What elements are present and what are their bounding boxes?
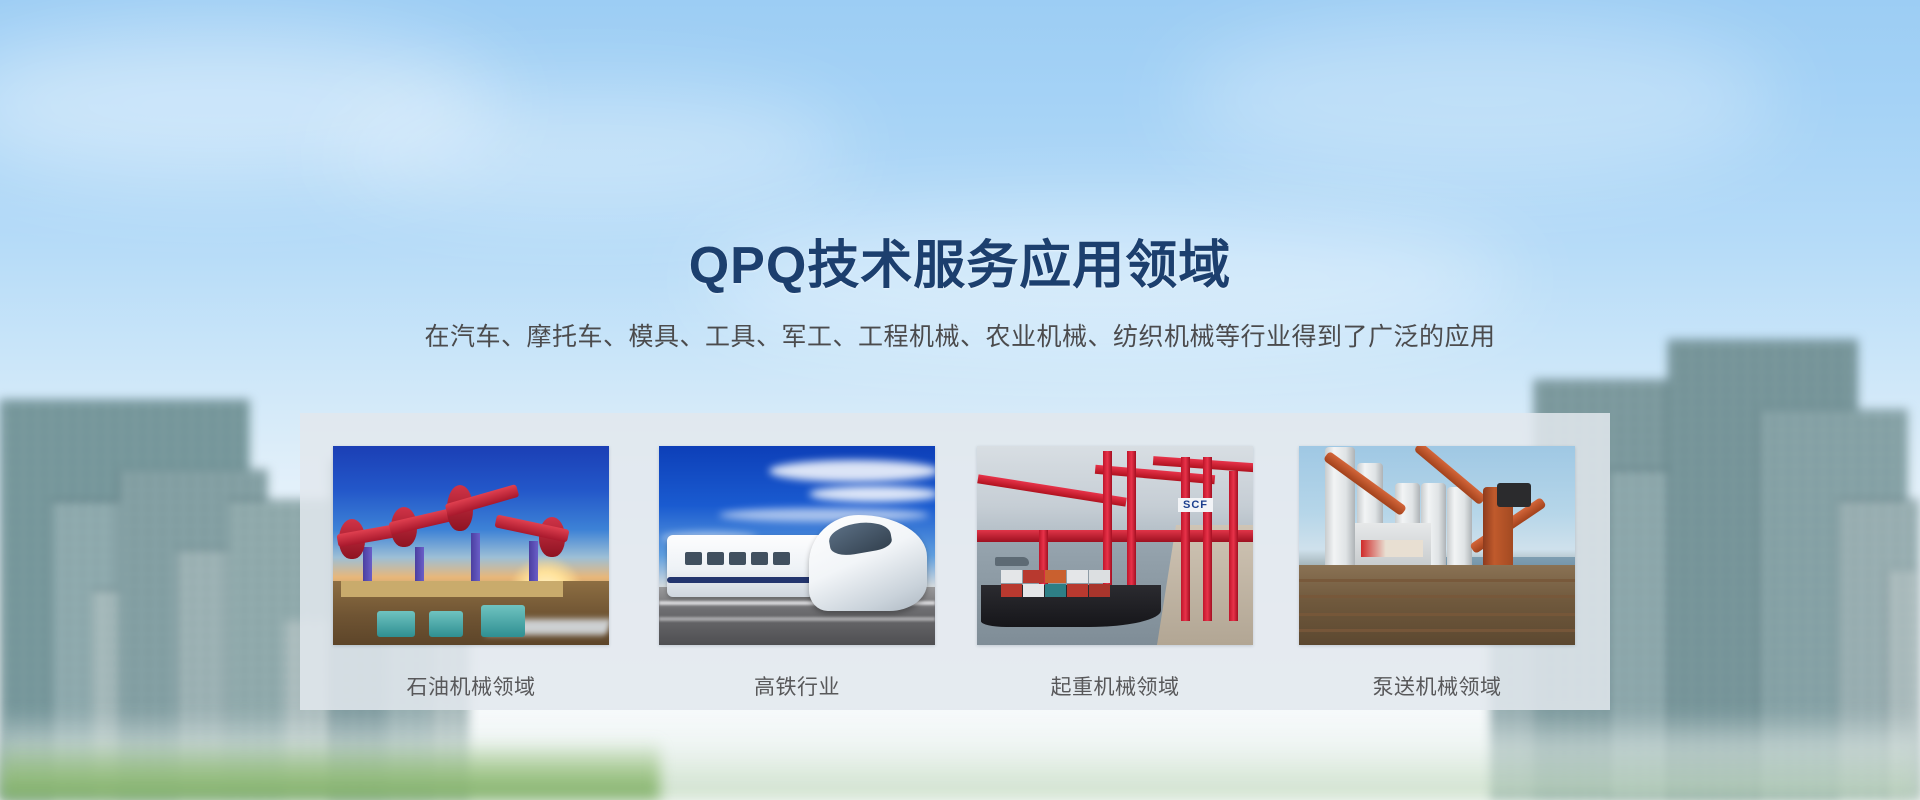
card-caption: 泵送机械领域 <box>1299 671 1575 701</box>
operator-cab <box>1497 483 1531 507</box>
concrete-pump-photo[interactable] <box>1299 446 1575 645</box>
card-pumping-machinery[interactable]: 泵送机械领域 <box>1299 446 1575 701</box>
cloud-icon <box>809 486 935 502</box>
valve-assembly <box>481 605 525 637</box>
valve-assembly <box>429 611 463 637</box>
site-banner <box>1361 540 1423 557</box>
cloud-wisp-icon <box>1180 20 1780 180</box>
cloud-icon <box>769 460 935 482</box>
card-oil-machinery[interactable]: 石油机械领域 <box>333 446 609 701</box>
card-lifting-machinery[interactable]: SCF 起重机械领域 <box>977 446 1253 701</box>
oil-pumpjack-photo[interactable] <box>333 446 609 645</box>
valve-assembly <box>377 611 415 637</box>
hero-heading: QPQ技术服务应用领域 在汽车、摩托车、模具、工具、军工、工程机械、农业机械、纺… <box>0 238 1920 353</box>
port-gantry-crane-photo[interactable]: SCF <box>977 446 1253 645</box>
page-subtitle: 在汽车、摩托车、模具、工具、军工、工程机械、农业机械、纺织机械等行业得到了广泛的… <box>0 317 1920 353</box>
application-fields-panel: 石油机械领域 高铁行业 <box>300 413 1610 710</box>
high-speed-train-photo[interactable] <box>659 446 935 645</box>
crane-label: SCF <box>1178 498 1213 512</box>
small-boat <box>995 557 1029 566</box>
card-caption: 高铁行业 <box>659 671 935 701</box>
card-high-speed-rail[interactable]: 高铁行业 <box>659 446 935 701</box>
card-caption: 起重机械领域 <box>977 671 1253 701</box>
cloud-wisp-icon <box>0 30 500 180</box>
page-title: QPQ技术服务应用领域 <box>0 238 1920 295</box>
cloud-icon <box>719 508 929 522</box>
tree-band <box>0 740 660 800</box>
construction-deck <box>1299 565 1575 645</box>
card-caption: 石油机械领域 <box>333 671 609 701</box>
cloud-wisp-icon <box>330 90 850 210</box>
